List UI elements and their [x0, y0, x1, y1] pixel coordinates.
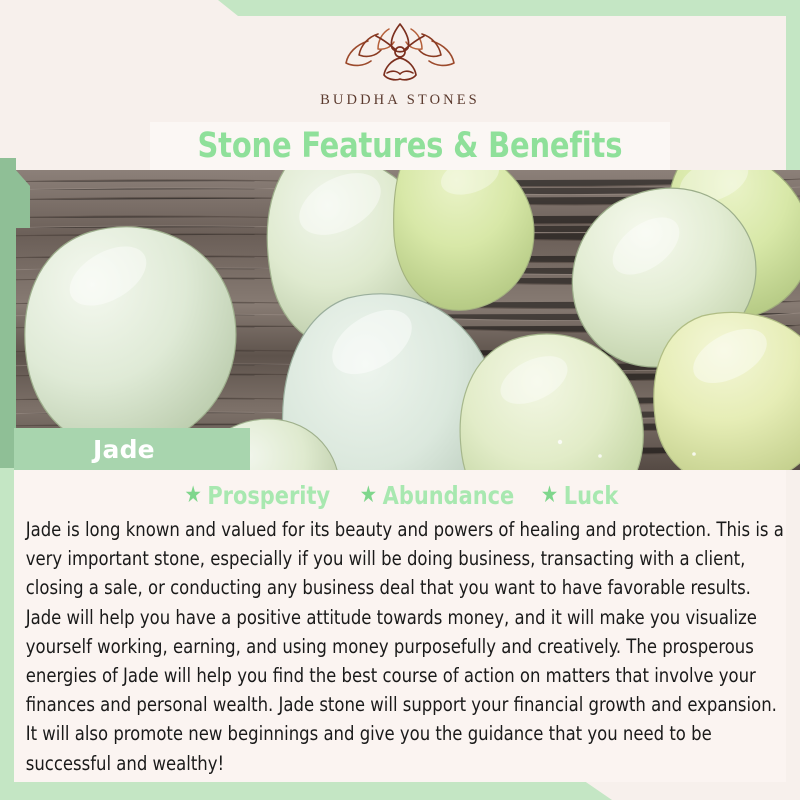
stone-description-text: Jade is long known and valued for its be…: [20, 515, 797, 778]
star-icon: ★: [541, 484, 558, 507]
stone-description-panel: ★ Prosperity ★ Abundance ★ Luck Jade is …: [14, 470, 786, 782]
benefit-label: Luck: [563, 481, 618, 510]
section-title-banner: Stone Features & Benefits: [150, 122, 670, 170]
stone-photo: [0, 170, 800, 470]
lotus-meditation-icon: [341, 22, 459, 84]
star-icon: ★: [359, 484, 376, 507]
benefits-list: ★ Prosperity ★ Abundance ★ Luck: [20, 478, 780, 512]
stone-name-label: Jade: [93, 435, 155, 464]
benefit-item-abundance: ★ Abundance: [359, 481, 513, 510]
page-title: Stone Features & Benefits: [198, 126, 623, 166]
left-green-strip-decoration: [0, 468, 14, 788]
stone-info-card: BUDDHA STONES Stone Features & Benefits: [0, 0, 800, 800]
stone-name-badge: Jade: [14, 428, 250, 470]
brand-name: BUDDHA STONES: [320, 92, 480, 109]
benefit-label: Prosperity: [207, 481, 330, 510]
benefit-label: Abundance: [382, 481, 514, 510]
brand-logo: BUDDHA STONES: [320, 22, 480, 109]
star-icon: ★: [185, 484, 202, 507]
benefit-item-luck: ★ Luck: [541, 481, 618, 510]
benefit-item-prosperity: ★ Prosperity: [185, 481, 331, 510]
